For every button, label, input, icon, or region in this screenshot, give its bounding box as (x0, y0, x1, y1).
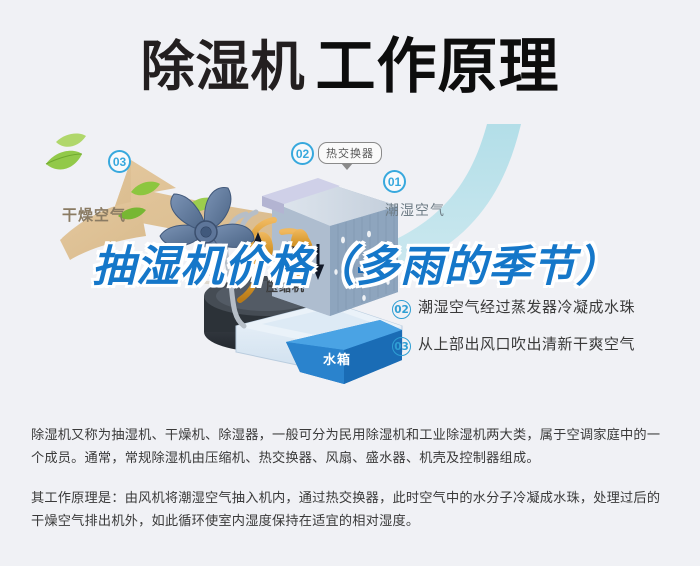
badge-03-diagram: 03 (108, 150, 131, 173)
page-root: 除湿机 工作原理 (0, 0, 700, 566)
label-heat-exchanger: 热交换器 (318, 142, 382, 164)
badge-02-diagram: 02 (291, 142, 314, 165)
list-item: 02 潮湿空气经过蒸发器冷凝成水珠 (392, 298, 692, 319)
label-water-tank: 水箱 (323, 349, 351, 368)
list-item-label: 从上部出风口吹出清新干爽空气 (418, 335, 635, 354)
list-item-label: 潮湿空气经过蒸发器冷凝成水珠 (418, 298, 635, 317)
step-list: 02 潮湿空气经过蒸发器冷凝成水珠 03 从上部出风口吹出清新干爽空气 (392, 298, 692, 372)
page-title: 除湿机 工作原理 (0, 24, 700, 110)
page-title-part1: 除湿机 (141, 40, 306, 94)
description-text: 除湿机又称为抽湿机、干燥机、除湿器，一般可分为民用除湿机和工业除湿机两大类，属于… (31, 424, 671, 533)
label-dry-air: 干燥空气 (62, 204, 126, 225)
badge-03-list: 03 (392, 337, 411, 356)
description-paragraph-1: 除湿机又称为抽湿机、干燥机、除湿器，一般可分为民用除湿机和工业除湿机两大类，属于… (31, 424, 671, 470)
list-item: 03 从上部出风口吹出清新干爽空气 (392, 335, 692, 356)
label-humid-air: 潮湿空气 (385, 200, 445, 220)
description-paragraph-2: 其工作原理是：由风机将潮湿空气抽入机内，通过热交换器，此时空气中的水分子冷凝成水… (31, 487, 671, 533)
page-title-part2: 工作原理 (316, 37, 560, 97)
label-compressor: 压缩机 (266, 278, 305, 295)
badge-01-diagram: 01 (383, 170, 406, 193)
badge-02-list: 02 (392, 300, 411, 319)
